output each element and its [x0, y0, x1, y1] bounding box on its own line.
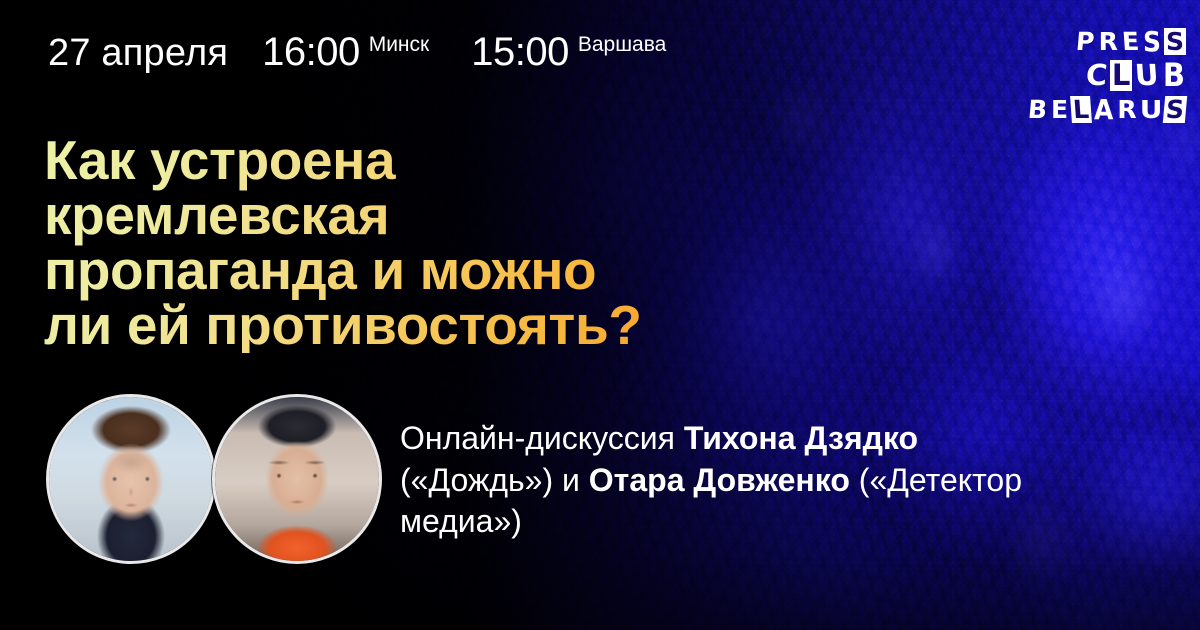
- time-minsk: 16:00: [262, 30, 360, 75]
- city-label-minsk: Минск: [369, 33, 430, 57]
- logo-char-club-3: B: [1162, 60, 1186, 92]
- logo-char-club-0: C: [1083, 61, 1109, 90]
- avatar-otar-dovzhenko: [212, 394, 382, 564]
- logo-char-belarus-2: L: [1070, 96, 1092, 123]
- headline-line-3: пропаганда и можно: [44, 243, 844, 298]
- headline-line-4: ли ей противостоять?: [44, 298, 844, 353]
- logo-char-belarus-4: R: [1116, 97, 1137, 122]
- press-club-belarus-logo: PRESS CLUB BELARUS: [1027, 28, 1186, 123]
- headline: Как устроена кремлевская пропаганда и мо…: [44, 133, 844, 353]
- speaker-avatars: [46, 394, 382, 564]
- logo-char-belarus-0: B: [1026, 97, 1049, 122]
- logo-char-press-2: E: [1120, 29, 1141, 54]
- logo-char-press-4: S: [1164, 28, 1186, 55]
- headline-line-2: кремлевская: [44, 188, 844, 243]
- logo-char-belarus-6: S: [1163, 96, 1187, 123]
- description-middle: («Дождь») и: [400, 462, 589, 498]
- speaker-one-name: Тихона Дзядко: [684, 420, 918, 456]
- event-date: 27 апреля: [48, 32, 228, 75]
- logo-char-press-1: R: [1098, 29, 1119, 54]
- city-label-warsaw: Варшава: [578, 33, 667, 57]
- timezone-minsk: 16:00 Минск: [262, 30, 429, 75]
- portrait-image-2: [215, 397, 379, 561]
- logo-char-belarus-1: E: [1050, 97, 1069, 122]
- logo-char-club-1: L: [1110, 60, 1132, 91]
- avatar-tikhon-dzyadko: [46, 394, 216, 564]
- logo-row-club: CLUB: [1085, 60, 1186, 91]
- logo-row-press: PRESS: [1075, 28, 1186, 55]
- timezone-warsaw: 15:00 Варшава: [471, 30, 666, 75]
- logo-char-club-2: U: [1133, 61, 1161, 90]
- event-datetime-bar: 27 апреля 16:00 Минск 15:00 Варшава: [48, 30, 666, 75]
- headline-line-1: Как устроена: [44, 133, 844, 188]
- logo-char-belarus-3: A: [1093, 96, 1114, 124]
- logo-row-belarus: BELARUS: [1027, 96, 1186, 123]
- portrait-image-1: [49, 397, 213, 561]
- logo-char-press-3: S: [1142, 28, 1162, 56]
- logo-char-belarus-5: U: [1138, 97, 1163, 122]
- time-warsaw: 15:00: [471, 30, 569, 75]
- event-banner: 27 апреля 16:00 Минск 15:00 Варшава Как …: [0, 0, 1200, 630]
- logo-char-press-0: P: [1074, 29, 1097, 54]
- event-description: Онлайн-дискуссия Тихона Дзядко («Дождь»)…: [400, 418, 1080, 543]
- description-prefix: Онлайн-дискуссия: [400, 420, 684, 456]
- speaker-two-name: Отара Довженко: [589, 462, 850, 498]
